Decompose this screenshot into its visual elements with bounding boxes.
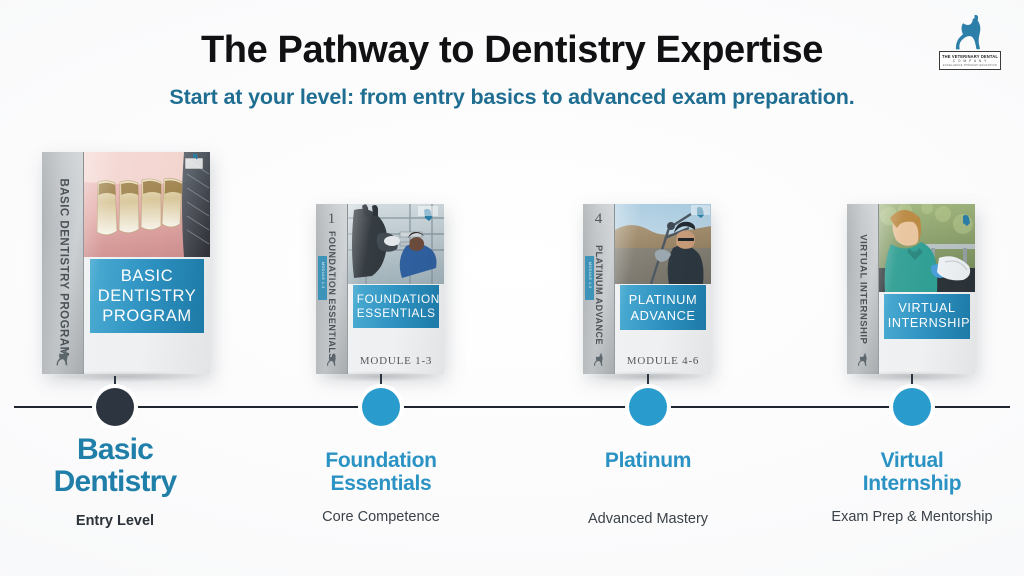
box-module-text: MODULE 4-6 xyxy=(615,355,711,374)
stage-title-line-1: Basic xyxy=(15,434,215,466)
stage-caption-platinum: Platinum Advanced Mastery xyxy=(548,450,748,528)
stage-title: Virtual Internship xyxy=(812,450,1012,495)
stage-caption-virtual-internship: Virtual Internship Exam Prep & Mentorshi… xyxy=(812,450,1012,527)
box-spine-logo xyxy=(847,352,878,368)
box-module-text xyxy=(879,367,975,374)
stage-title: Foundation Essentials xyxy=(281,450,481,495)
timeline-dot-virtual-internship[interactable] xyxy=(893,388,931,426)
timeline-dot-basic-dentistry[interactable] xyxy=(96,388,134,426)
stage-title-line-2: Dentistry xyxy=(15,466,215,498)
stage-title-line-1: Foundation xyxy=(281,450,481,473)
box-front-face: FOUNDATION ESSENTIALS MODULE 1-3 xyxy=(348,204,444,374)
stage-title-line-1: Platinum xyxy=(548,450,748,473)
box-spine-logo xyxy=(316,352,347,368)
equine-teeth-photo xyxy=(84,152,210,257)
outdoor-vet-photo xyxy=(615,204,711,284)
stage-title-line-2: Essentials xyxy=(281,473,481,496)
box-front-face: PLATINUM ADVANCE MODULE 4-6 xyxy=(615,204,711,374)
product-box-basic-dentistry-program[interactable]: BASIC DENTISTRY PROGRAM xyxy=(42,152,210,374)
stage-title: Platinum xyxy=(548,450,748,473)
box-spine-logo xyxy=(583,352,614,368)
stage-subtitle: Entry Level xyxy=(15,513,215,530)
box-spine: VIRTUAL INTERNSHIP xyxy=(847,204,879,374)
product-box-platinum-advance[interactable]: 4 MODULE 4-6 PLATINUM ADVANCE xyxy=(583,204,711,374)
box-spine-text: FOUNDATION ESSENTIALS xyxy=(316,204,347,374)
stage-caption-basic-dentistry: Basic Dentistry Entry Level xyxy=(15,434,215,530)
box-spine-text: BASIC DENTISTRY PROGRAM xyxy=(42,152,83,374)
stage-title: Basic Dentistry xyxy=(15,434,215,499)
box-label-band: PLATINUM ADVANCE xyxy=(620,285,706,330)
box-front-face: BASIC DENTISTRY PROGRAM xyxy=(84,152,210,374)
box-front-face: VIRTUAL INTERNSHIP xyxy=(879,204,975,374)
box-spine: 4 MODULE 4-6 PLATINUM ADVANCE xyxy=(583,204,615,374)
timeline-axis xyxy=(14,406,1010,408)
pathway-infographic-slide: The Pathway to Dentistry Expertise Start… xyxy=(0,0,1024,576)
box-spine-label: BASIC DENTISTRY PROGRAM xyxy=(56,178,69,348)
box-spine-text: PLATINUM ADVANCE xyxy=(583,204,614,374)
box-label-band: VIRTUAL INTERNSHIP xyxy=(884,294,970,339)
box-label-band: BASIC DENTISTRY PROGRAM xyxy=(90,259,203,333)
box-module-text: MODULE 1-3 xyxy=(348,355,444,374)
stage-caption-foundation-essentials: Foundation Essentials Core Competence xyxy=(281,450,481,527)
stage-subtitle: Advanced Mastery xyxy=(548,511,748,528)
box-spine-label: VIRTUAL INTERNSHIP xyxy=(857,234,868,344)
box-label-text: PLATINUM ADVANCE xyxy=(629,292,698,323)
box-spine-text: VIRTUAL INTERNSHIP xyxy=(847,204,878,374)
timeline-dot-platinum[interactable] xyxy=(629,388,667,426)
box-spine: BASIC DENTISTRY PROGRAM xyxy=(42,152,84,374)
box-photo-teeth xyxy=(84,152,210,257)
box-spine-label: FOUNDATION ESSENTIALS xyxy=(326,231,336,359)
rearing-horse-icon xyxy=(592,352,606,368)
horse-dentistry-photo xyxy=(348,204,444,284)
stage-title-line-2: Internship xyxy=(812,473,1012,496)
box-label-text: VIRTUAL INTERNSHIP xyxy=(888,301,970,330)
rearing-horse-icon xyxy=(856,352,870,368)
box-module-text xyxy=(84,367,210,374)
product-box-foundation-essentials[interactable]: 1 MODULE 1-3 FOUNDATION ESSENTIALS xyxy=(316,204,444,374)
stage-subtitle: Core Competence xyxy=(281,509,481,526)
box-label-text: BASIC DENTISTRY PROGRAM xyxy=(98,267,197,325)
box-spine-logo xyxy=(42,348,83,368)
timeline-dot-foundation-essentials[interactable] xyxy=(362,388,400,426)
box-spine: 1 MODULE 1-3 FOUNDATION ESSENTIALS xyxy=(316,204,348,374)
box-photo-horse-exam xyxy=(348,204,444,284)
box-label-band: FOUNDATION ESSENTIALS xyxy=(353,285,439,328)
box-label-text: FOUNDATION ESSENTIALS xyxy=(357,292,440,320)
box-photo-outdoor-vet xyxy=(615,204,711,284)
stage-subtitle: Exam Prep & Mentorship xyxy=(812,509,1012,526)
box-spine-label: PLATINUM ADVANCE xyxy=(593,245,603,345)
vet-in-scrubs-photo xyxy=(879,204,975,292)
box-photo-vet-scrubs xyxy=(879,204,975,292)
rearing-horse-icon xyxy=(325,352,339,368)
stage-title-line-1: Virtual xyxy=(812,450,1012,473)
product-box-virtual-internship[interactable]: VIRTUAL INTERNSHIP xyxy=(847,204,975,374)
rearing-horse-icon xyxy=(54,348,72,368)
